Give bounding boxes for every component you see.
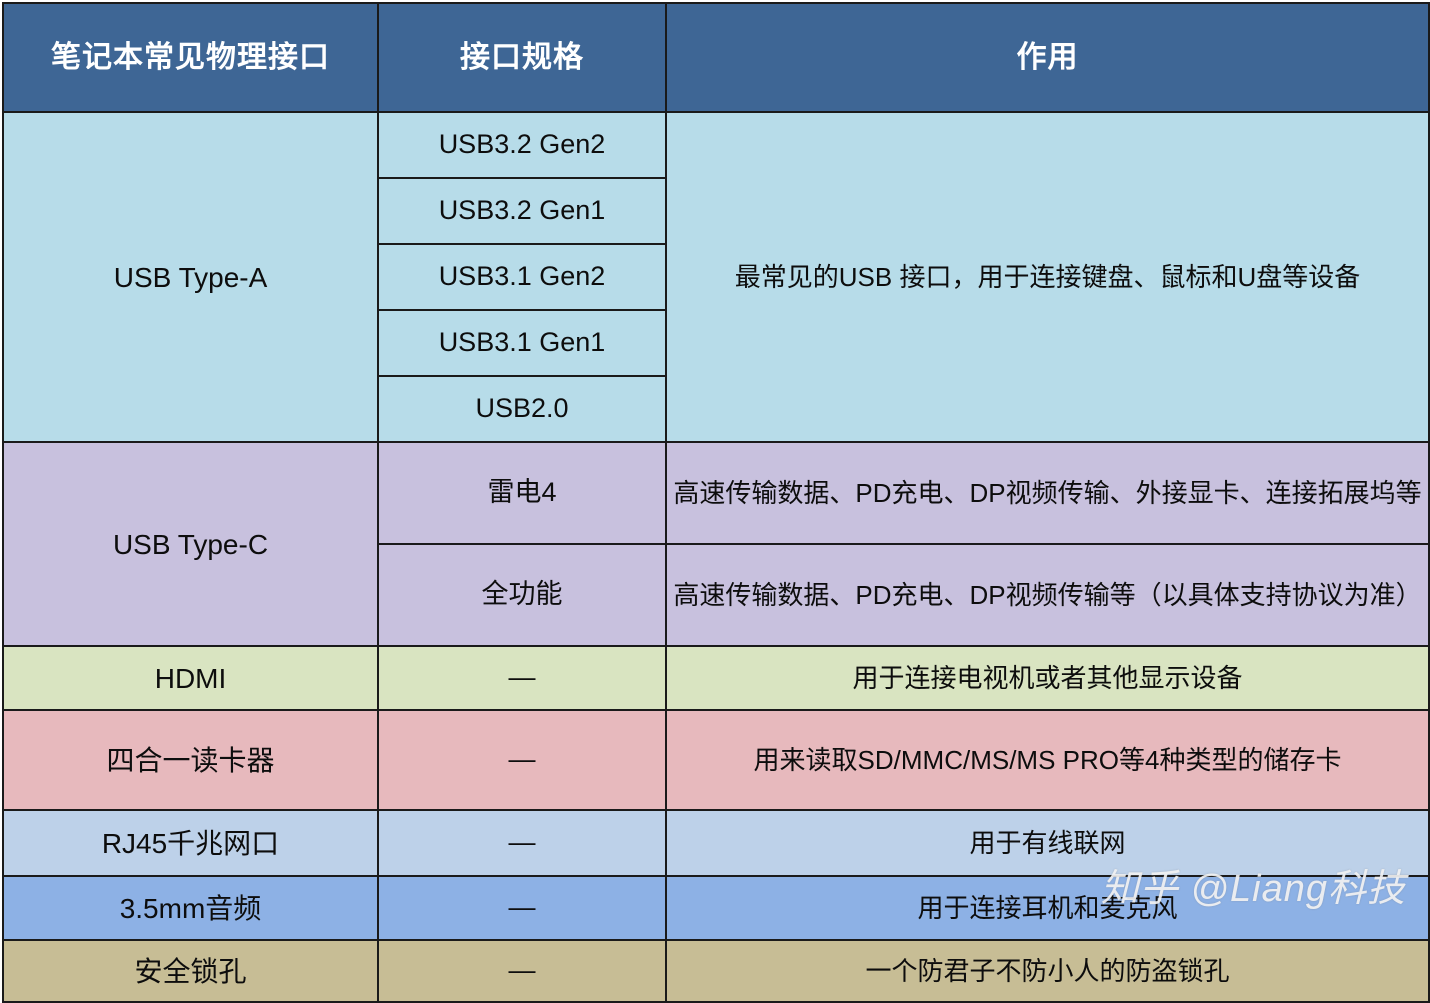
laptop-ports-table: 笔记本常见物理接口 接口规格 作用 USB Type-A USB3.2 Gen2… — [2, 2, 1430, 1003]
cell-description-security-lock: 一个防君子不防小人的防盗锁孔 — [666, 940, 1429, 1002]
table-row: 安全锁孔 — 一个防君子不防小人的防盗锁孔 — [3, 940, 1429, 1002]
cell-category-audio-jack: 3.5mm音频 — [3, 876, 378, 940]
cell-category-usb-type-a: USB Type-A — [3, 112, 378, 442]
cell-spec-thunderbolt4: 雷电4 — [378, 442, 666, 544]
cell-category-rj45: RJ45千兆网口 — [3, 810, 378, 876]
cell-spec-usb32-gen1: USB3.2 Gen1 — [378, 178, 666, 244]
cell-description-full-function: 高速传输数据、PD充电、DP视频传输等（以具体支持协议为准） — [666, 544, 1429, 646]
table-header-row: 笔记本常见物理接口 接口规格 作用 — [3, 3, 1429, 112]
cell-spec-usb32-gen2: USB3.2 Gen2 — [378, 112, 666, 178]
table-row: 3.5mm音频 — 用于连接耳机和麦克风 — [3, 876, 1429, 940]
cell-spec-hdmi: — — [378, 646, 666, 710]
cell-description-thunderbolt4: 高速传输数据、PD充电、DP视频传输、外接显卡、连接拓展坞等 — [666, 442, 1429, 544]
cell-category-usb-type-c: USB Type-C — [3, 442, 378, 646]
cell-description-hdmi: 用于连接电视机或者其他显示设备 — [666, 646, 1429, 710]
cell-spec-audio-jack: — — [378, 876, 666, 940]
table-row: RJ45千兆网口 — 用于有线联网 — [3, 810, 1429, 876]
column-header-spec: 接口规格 — [378, 3, 666, 112]
column-header-port: 笔记本常见物理接口 — [3, 3, 378, 112]
cell-spec-usb31-gen2: USB3.1 Gen2 — [378, 244, 666, 310]
cell-spec-usb20: USB2.0 — [378, 376, 666, 442]
cell-description-usb-type-a: 最常见的USB 接口，用于连接键盘、鼠标和U盘等设备 — [666, 112, 1429, 442]
table-row: USB Type-C 雷电4 高速传输数据、PD充电、DP视频传输、外接显卡、连… — [3, 442, 1429, 544]
table-row: 四合一读卡器 — 用来读取SD/MMC/MS/MS PRO等4种类型的储存卡 — [3, 710, 1429, 810]
table-row: HDMI — 用于连接电视机或者其他显示设备 — [3, 646, 1429, 710]
cell-spec-security-lock: — — [378, 940, 666, 1002]
cell-spec-full-function: 全功能 — [378, 544, 666, 646]
cell-description-rj45: 用于有线联网 — [666, 810, 1429, 876]
table-row: USB Type-A USB3.2 Gen2 最常见的USB 接口，用于连接键盘… — [3, 112, 1429, 178]
cell-description-card-reader: 用来读取SD/MMC/MS/MS PRO等4种类型的储存卡 — [666, 710, 1429, 810]
cell-description-audio-jack: 用于连接耳机和麦克风 — [666, 876, 1429, 940]
column-header-function: 作用 — [666, 3, 1429, 112]
cell-category-security-lock: 安全锁孔 — [3, 940, 378, 1002]
cell-spec-usb31-gen1: USB3.1 Gen1 — [378, 310, 666, 376]
cell-category-card-reader: 四合一读卡器 — [3, 710, 378, 810]
table-container: 笔记本常见物理接口 接口规格 作用 USB Type-A USB3.2 Gen2… — [0, 0, 1430, 950]
cell-spec-card-reader: — — [378, 710, 666, 810]
cell-category-hdmi: HDMI — [3, 646, 378, 710]
cell-spec-rj45: — — [378, 810, 666, 876]
